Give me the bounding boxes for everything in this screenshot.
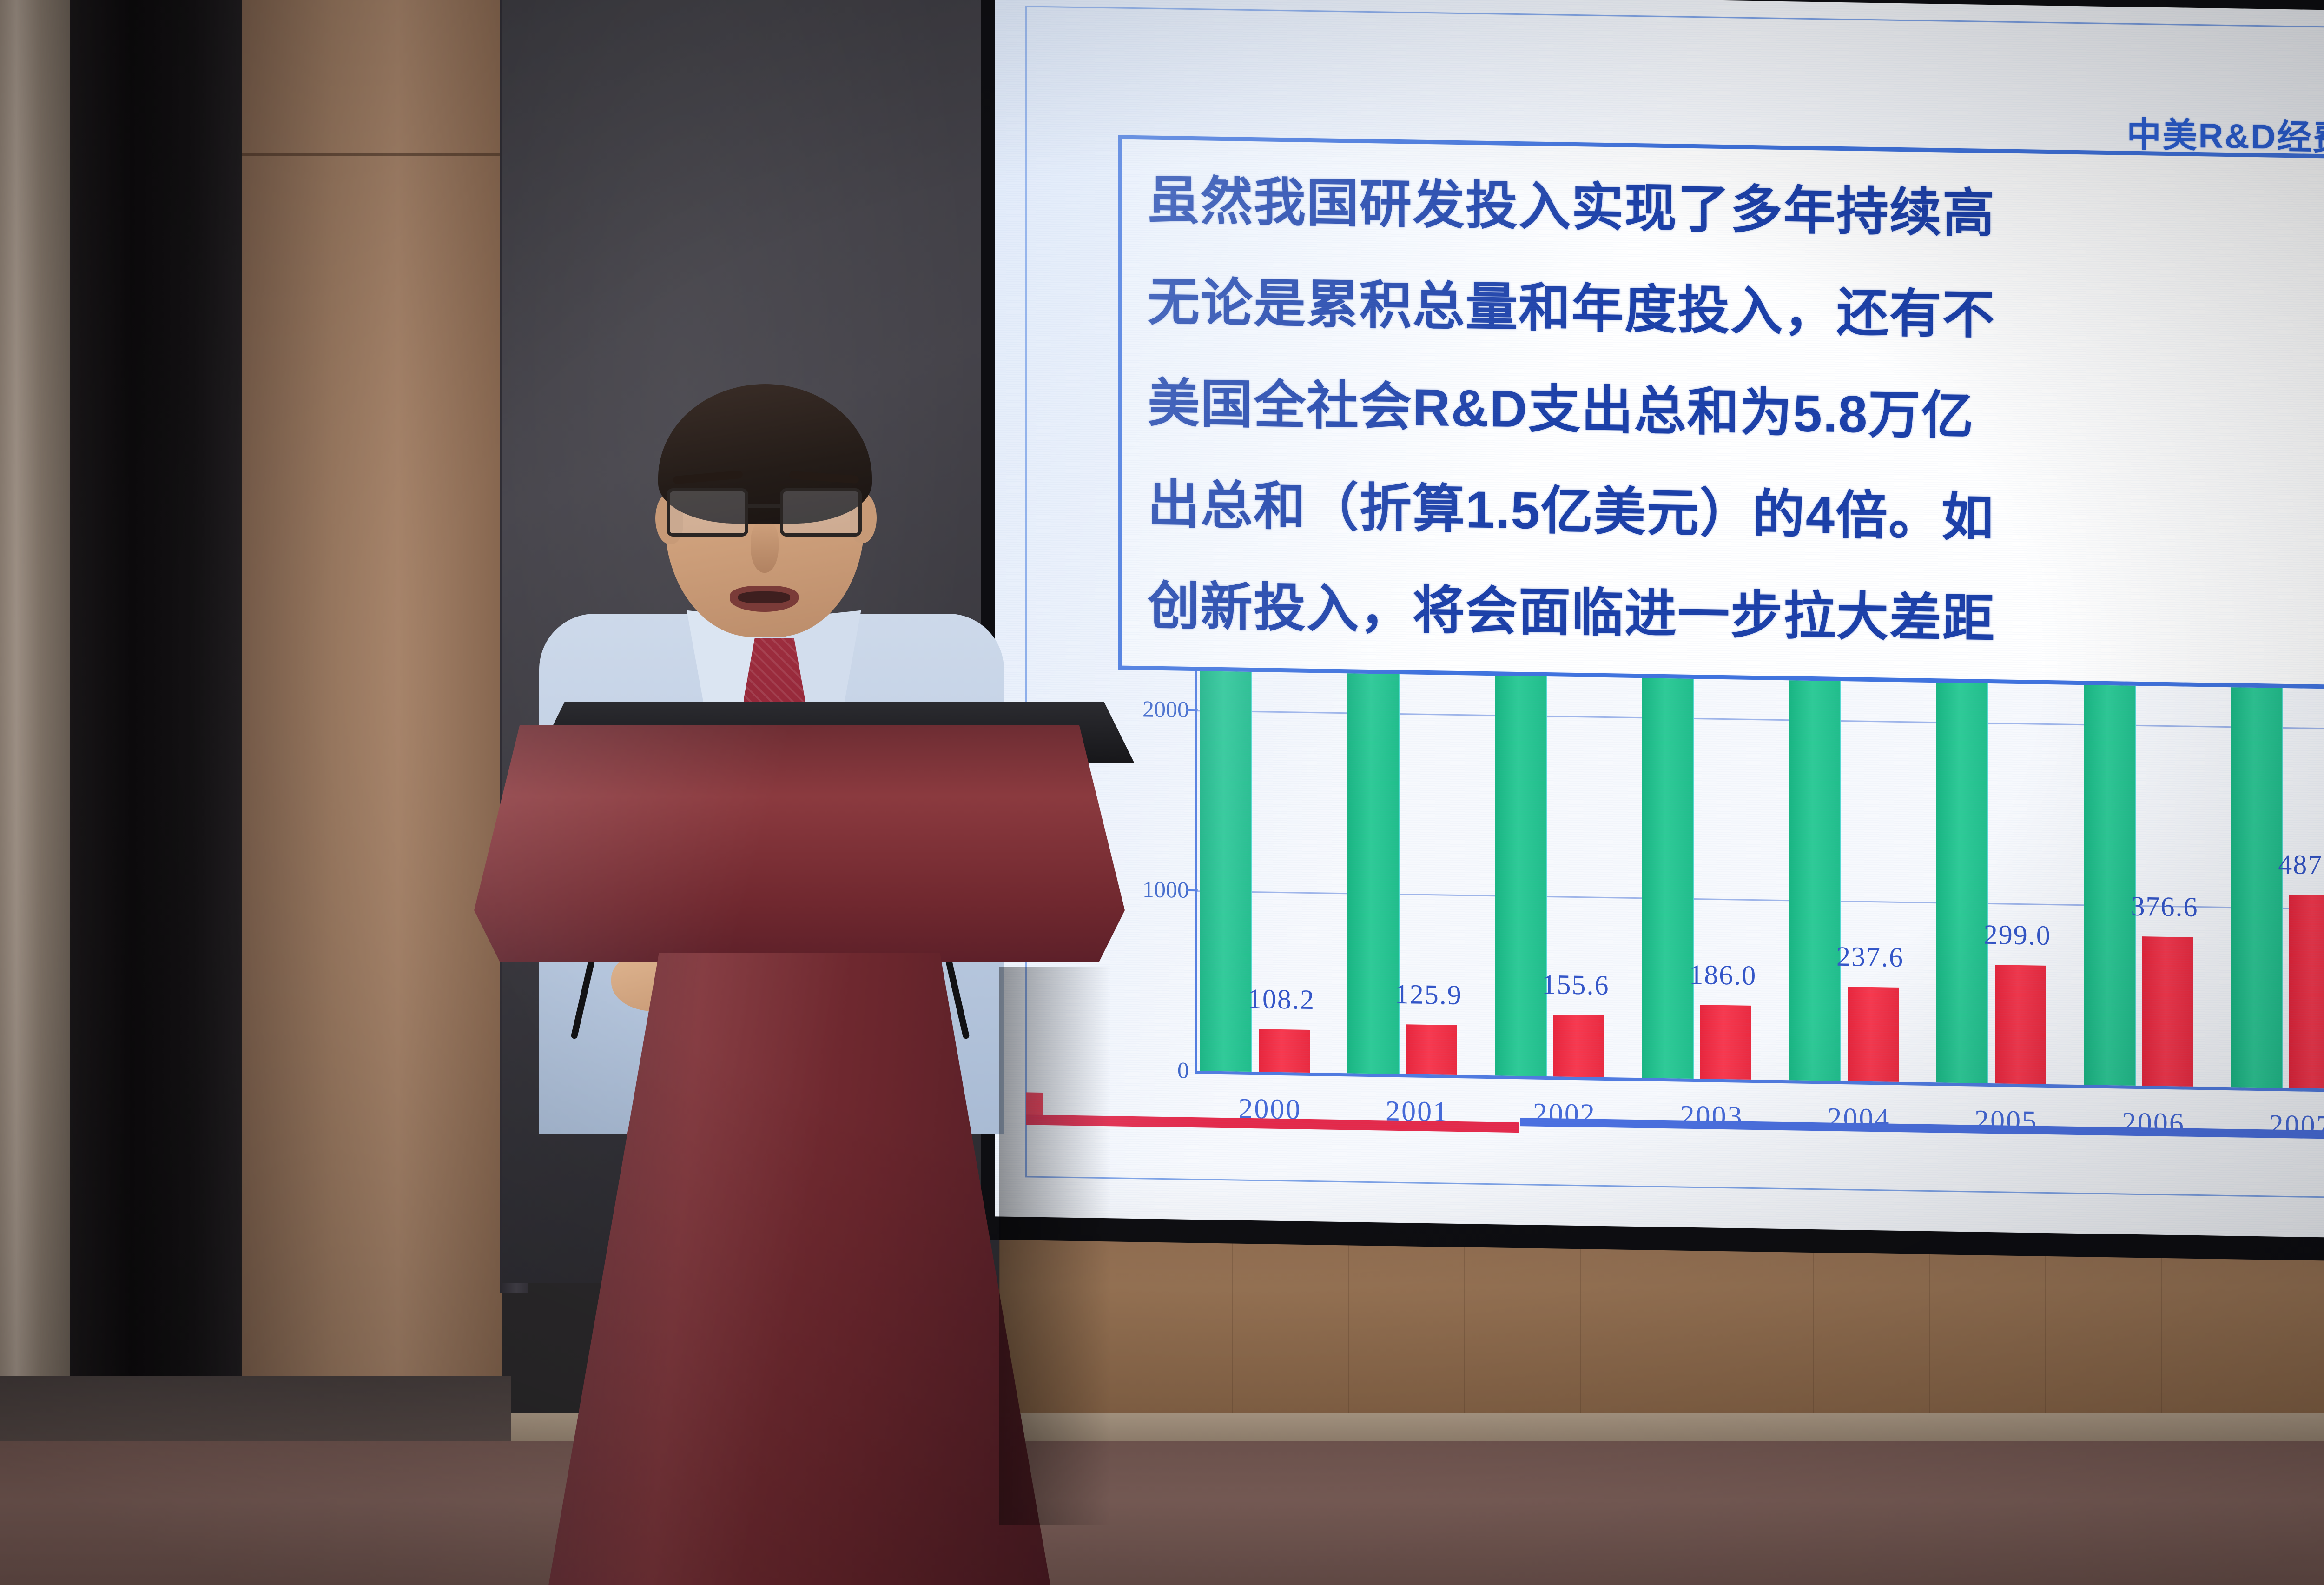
overlay-text-line: 出总和（折算1.5亿美元）的4倍。如	[1148, 463, 1994, 551]
bar-series-china	[1700, 1005, 1751, 1079]
bar-series-china	[1553, 1015, 1604, 1077]
bar-data-label: 299.0	[1984, 919, 2051, 952]
bar-series-china	[2289, 895, 2324, 1089]
bar-series-china	[1995, 965, 2046, 1084]
mouth-interior	[738, 591, 790, 603]
y-tick-label: 2000	[1129, 695, 1189, 723]
bar-series-china	[1406, 1024, 1457, 1075]
overlay-text-line: 无论是累积总量和年度投入，还有不	[1148, 260, 1995, 349]
nose	[751, 521, 779, 573]
presentation-slide: 中美R&D经费支 5000 4000 3000 2000 1000	[995, 0, 2324, 1239]
slide-text-overlay: 虽然我国研发投入实现了多年持续高 无论是累积总量和年度投入，还有不 美国全社会R…	[1118, 135, 2324, 690]
bar-data-label: 237.6	[1836, 941, 1904, 974]
bar-data-label: 155.6	[1542, 968, 1610, 1001]
bar-series-china	[1848, 987, 1899, 1082]
bar-data-label: 186.0	[1689, 959, 1756, 992]
left-curtain	[0, 0, 74, 1511]
bar-data-label: 125.9	[1395, 978, 1462, 1011]
glasses-lens-left	[667, 488, 748, 537]
bar-data-label: 108.2	[1248, 983, 1315, 1016]
bar-series-china	[2142, 936, 2193, 1087]
dark-curtain	[70, 0, 246, 1525]
podium-shadow	[999, 967, 1111, 1525]
wood-panel-seam	[242, 153, 502, 156]
bar-data-label: 376.6	[2131, 890, 2199, 923]
overlay-text-line: 创新投入，将会面临进一步拉大差距	[1148, 564, 1995, 653]
overlay-text-line: 美国全社会R&D支出总和为5.8万亿	[1148, 361, 1974, 450]
mouth	[730, 586, 799, 612]
bar-series-china	[1259, 1029, 1310, 1073]
y-tick-label: 0	[1129, 1056, 1189, 1084]
projection-screen: 中美R&D经费支 5000 4000 3000 2000 1000	[995, 0, 2324, 1239]
overlay-text-line: 虽然我国研发投入实现了多年持续高	[1148, 159, 1995, 247]
presentation-photo-scene: 中美R&D经费支 5000 4000 3000 2000 1000	[0, 0, 2324, 1585]
glasses-bridge	[748, 504, 782, 508]
y-tick-label: 1000	[1129, 875, 1189, 903]
wood-wall-panel-left	[242, 0, 502, 1395]
bar-data-label: 487.7	[2278, 848, 2324, 881]
glasses-lens-right	[780, 488, 862, 537]
stage-floor	[0, 1441, 2324, 1585]
podium-body-highlight	[474, 725, 1125, 962]
